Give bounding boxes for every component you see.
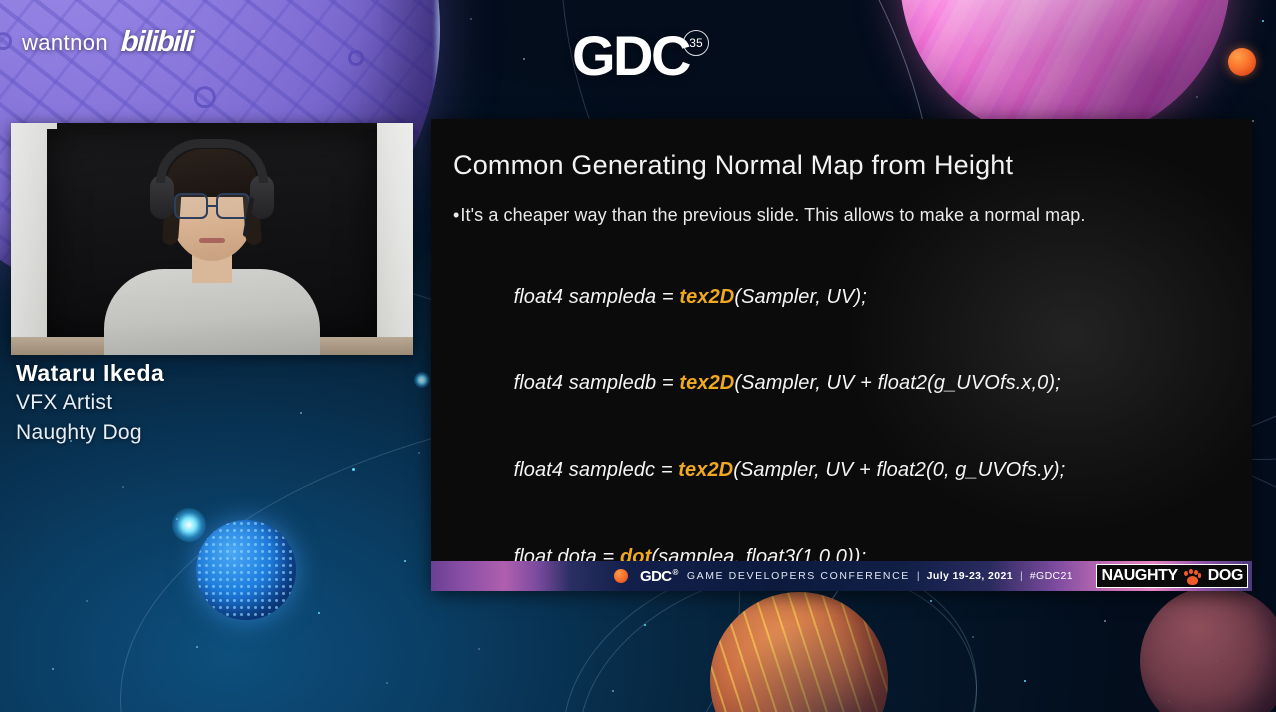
footer-conference-name: GAME DEVELOPERS CONFERENCE bbox=[687, 570, 910, 582]
footer-hashtag: #GDC21 bbox=[1030, 570, 1073, 582]
webcam-wall-right bbox=[377, 123, 413, 355]
naughty-dog-word-2: DOG bbox=[1204, 565, 1247, 587]
speaker-info-block: Wataru Ikeda VFX Artist Naughty Dog bbox=[16, 358, 164, 447]
code-line: float4 sampleda = tex2D(Sampler, UV); bbox=[457, 254, 1230, 341]
planet-blue-dotted bbox=[196, 520, 296, 620]
glow-star-small bbox=[414, 372, 430, 388]
code-pre: float4 sampledb = bbox=[514, 372, 680, 394]
footer-orange-dot bbox=[614, 569, 628, 583]
bilibili-logo: bilibili bbox=[120, 26, 194, 59]
code-function: tex2D bbox=[678, 459, 733, 481]
speaker-role: VFX Artist bbox=[16, 388, 164, 417]
code-post: (Sampler, UV + float2(0, g_UVOfs.y); bbox=[733, 459, 1065, 481]
footer-separator-1: | bbox=[917, 570, 920, 582]
code-pre: float4 sampleda = bbox=[514, 286, 680, 308]
footer-dates: July 19-23, 2021 bbox=[927, 570, 1013, 582]
registered-trademark-icon: ® bbox=[673, 568, 678, 577]
code-post: (Sampler, UV); bbox=[734, 286, 867, 308]
code-function: tex2D bbox=[679, 372, 734, 394]
speaker-company: Naughty Dog bbox=[16, 418, 164, 447]
orbiting-sphere-top-right bbox=[1228, 48, 1256, 76]
watermark-username: wantnon bbox=[22, 30, 108, 56]
stream-stage: wantnon bilibili GDC 35 Wa bbox=[0, 0, 1276, 712]
bullet-text: It's a cheaper way than the previous sli… bbox=[460, 205, 1085, 225]
speaker-name: Wataru Ikeda bbox=[16, 358, 164, 388]
slide-bullet-point: •It's a cheaper way than the previous sl… bbox=[453, 203, 1230, 227]
slide-footer-bar: GDC® GAME DEVELOPERS CONFERENCE | July 1… bbox=[431, 561, 1252, 591]
footer-gdc-text: GDC bbox=[640, 568, 672, 585]
speaker-figure bbox=[97, 165, 327, 355]
shader-code-block: float4 sampleda = tex2D(Sampler, UV); fl… bbox=[453, 254, 1230, 591]
speaker-mouth bbox=[199, 238, 225, 243]
stream-watermark: wantnon bilibili bbox=[22, 26, 193, 59]
footer-gdc-logo: GDC® bbox=[640, 568, 678, 585]
code-function: tex2D bbox=[679, 286, 734, 308]
slide-content: Common Generating Normal Map from Height… bbox=[431, 119, 1252, 591]
planet-shading bbox=[710, 592, 888, 712]
code-post: (Sampler, UV + float2(g_UVOfs.x,0); bbox=[734, 372, 1060, 394]
glasses-lens-left bbox=[174, 193, 208, 219]
naughty-dog-logo: NAUGHTY DOG bbox=[1096, 564, 1248, 588]
gdc-anniversary-badge: 35 bbox=[683, 30, 709, 56]
slide-title: Common Generating Normal Map from Height bbox=[453, 149, 1230, 181]
code-line: float4 sampledb = tex2D(Sampler, UV + fl… bbox=[457, 340, 1230, 427]
code-line: float4 sampledc = tex2D(Sampler, UV + fl… bbox=[457, 427, 1230, 514]
planet-orange-ringed bbox=[710, 592, 888, 712]
planet-dot-texture bbox=[196, 520, 296, 620]
speaker-webcam-panel bbox=[11, 123, 413, 355]
footer-separator-2: | bbox=[1020, 570, 1023, 582]
glasses-bridge bbox=[207, 205, 218, 208]
glasses-lens-right bbox=[216, 193, 250, 219]
gdc-wordmark: GDC bbox=[572, 28, 689, 84]
naughty-dog-word-1: NAUGHTY bbox=[1097, 565, 1181, 587]
gdc-header-logo: GDC 35 bbox=[572, 28, 709, 84]
code-pre: float4 sampledc = bbox=[514, 459, 679, 481]
paw-print-icon bbox=[1182, 565, 1204, 587]
planet-dark-red bbox=[1140, 586, 1276, 712]
presentation-slide: Common Generating Normal Map from Height… bbox=[431, 119, 1252, 591]
bullet-marker: • bbox=[453, 205, 459, 225]
